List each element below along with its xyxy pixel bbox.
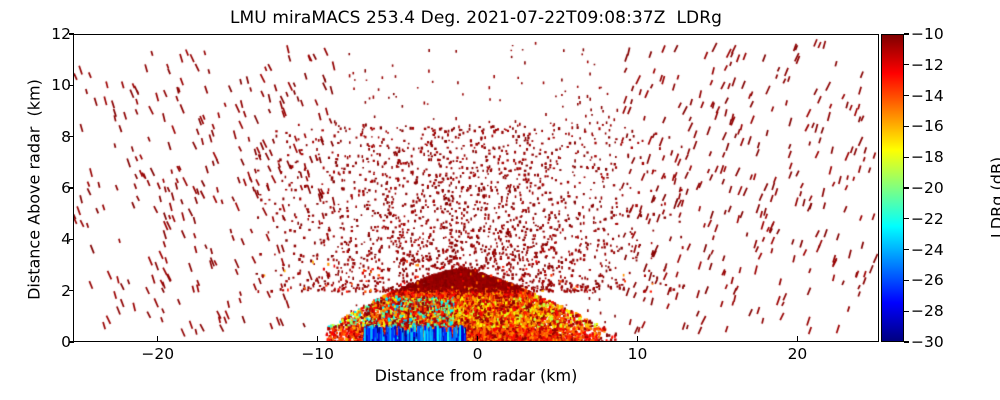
x-tick-mark [797,336,798,341]
y-tick-label: 0 [31,333,71,351]
radar-ldr-figure: LMU miraMACS 253.4 Deg. 2021-07-22T09:08… [0,0,1000,400]
colorbar-tick-label: −24 [911,241,944,259]
x-tick-mark [157,336,158,341]
x-tick-label: 0 [448,345,508,363]
x-tick-label: −10 [288,345,348,363]
colorbar-tick-label: −26 [911,271,944,289]
colorbar-tick-mark [904,126,909,127]
x-tick-mark [477,336,478,341]
x-tick-label: −20 [128,345,188,363]
x-tick-mark [317,336,318,341]
x-tick-mark [637,336,638,341]
page-title: LMU miraMACS 253.4 Deg. 2021-07-22T09:08… [0,8,952,28]
colorbar-tick-mark [904,95,909,96]
y-axis-label: Distance Above radar (km) [25,60,44,320]
colorbar-tick-label: −18 [911,148,944,166]
colorbar-tick-label: −28 [911,302,944,320]
colorbar-tick-label: −12 [911,56,944,74]
x-tick-label: 20 [767,345,827,363]
colorbar-tick-label: −14 [911,87,944,105]
colorbar-tick-mark [904,280,909,281]
colorbar-tick-label: −30 [911,333,944,351]
colorbar-tick-mark [904,249,909,250]
colorbar-tick-mark [904,311,909,312]
colorbar-tick-label: −20 [911,179,944,197]
colorbar-gradient [882,35,903,341]
colorbar-tick-mark [904,64,909,65]
x-tick-label: 10 [608,345,668,363]
colorbar-tick-mark [904,33,909,34]
colorbar-tick-label: −16 [911,117,944,135]
colorbar-tick-mark [904,341,909,342]
y-tick-label: 12 [31,25,71,43]
colorbar [881,34,904,342]
plot-area [73,34,879,342]
x-axis-label: Distance from radar (km) [73,366,879,385]
colorbar-tick-mark [904,187,909,188]
colorbar-tick-mark [904,157,909,158]
scatter-canvas [74,35,879,342]
colorbar-label: LDRg (dB) [988,73,1000,323]
colorbar-tick-mark [904,218,909,219]
colorbar-tick-label: −22 [911,210,944,228]
colorbar-tick-label: −10 [911,25,944,43]
